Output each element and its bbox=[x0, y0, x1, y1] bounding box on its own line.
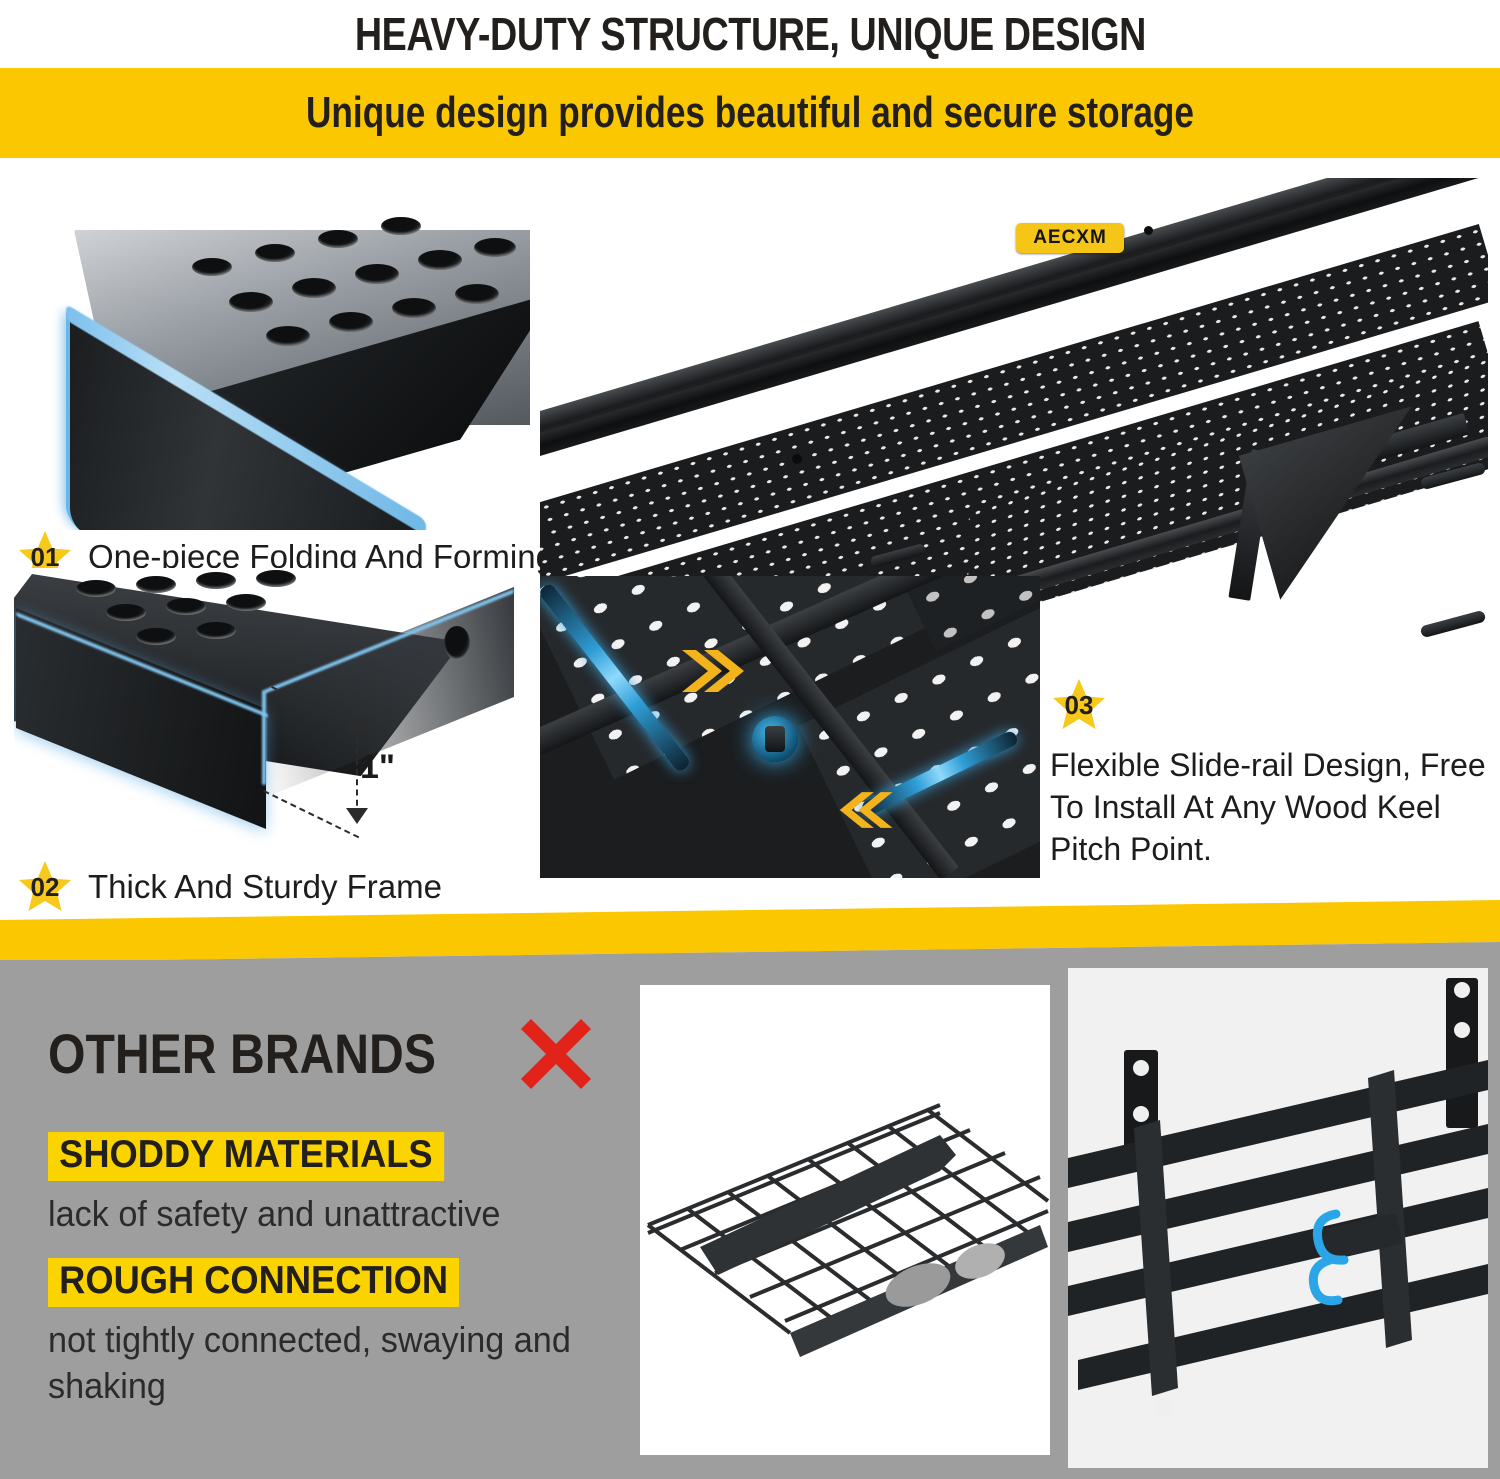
perforation-hole bbox=[106, 604, 146, 621]
comparison-section: OTHER BRANDS SHODDY MATERIALS lack of sa… bbox=[0, 960, 1500, 1479]
chevron-arrow-icon bbox=[678, 644, 746, 703]
wall-anchor-screw bbox=[1420, 610, 1487, 639]
perforation-hole bbox=[381, 217, 421, 235]
brand-badge: AECXM bbox=[1016, 223, 1124, 253]
perforation-hole bbox=[256, 570, 296, 587]
perforation-hole bbox=[136, 576, 176, 593]
feature-caption-03: 03 Flexible Slide-rail Design, Free To I… bbox=[1050, 676, 1490, 871]
perforation-hole bbox=[329, 312, 373, 332]
perforation-hole bbox=[192, 258, 232, 276]
comparison-title: OTHER BRANDS bbox=[48, 1026, 436, 1082]
comparison-item-tag: ROUGH CONNECTION bbox=[48, 1258, 459, 1307]
perforation-hole bbox=[318, 230, 358, 248]
feature-label: Thick And Sturdy Frame bbox=[88, 868, 442, 906]
perforation-hole bbox=[418, 250, 462, 270]
photo-competitor-bracket-rack bbox=[1068, 968, 1488, 1468]
comparison-item-tag: SHODDY MATERIALS bbox=[48, 1132, 444, 1181]
feature-number: 02 bbox=[31, 872, 60, 903]
slide-rail-bolt bbox=[752, 716, 798, 762]
perforation-hole bbox=[196, 622, 236, 639]
feature-number: 03 bbox=[1065, 690, 1094, 721]
perforation-hole bbox=[266, 326, 310, 346]
feature-label: Flexible Slide-rail Design, Free To Inst… bbox=[1050, 744, 1490, 871]
dimension-line bbox=[356, 728, 358, 816]
edge-highlight-vertical bbox=[262, 690, 266, 785]
perforation-hole bbox=[455, 284, 499, 304]
perforation-hole-side bbox=[444, 626, 470, 660]
feature-number: 01 bbox=[31, 542, 60, 573]
comparison-item-2: ROUGH CONNECTION not tightly connected, … bbox=[48, 1258, 648, 1409]
dimension-value: 1" bbox=[360, 748, 395, 787]
perforation-hole bbox=[392, 298, 436, 318]
comparison-item-1: SHODDY MATERIALS lack of safety and unat… bbox=[48, 1132, 524, 1237]
features-section: 01 One-piece Folding And Forming 1" bbox=[0, 158, 1500, 920]
perforation-hole bbox=[166, 598, 206, 615]
star-badge-icon: 02 bbox=[16, 858, 74, 916]
header-title-bar: HEAVY-DUTY STRUCTURE, UNIQUE DESIGN bbox=[0, 0, 1500, 68]
dimension-arrow-down-icon bbox=[346, 808, 368, 824]
photo-thick-sturdy-frame: 1" bbox=[14, 568, 530, 858]
x-mark-icon bbox=[517, 1015, 595, 1093]
perforation-hole bbox=[355, 264, 399, 284]
photo-competitor-wire-mesh bbox=[640, 985, 1050, 1455]
photo-slide-rail-closeup bbox=[540, 576, 1040, 878]
photo-one-piece-folding bbox=[14, 200, 530, 530]
perforation-hole bbox=[255, 244, 295, 262]
perforation-hole bbox=[229, 292, 273, 312]
comparison-item-description: lack of safety and unattractive bbox=[48, 1191, 500, 1237]
perforation-hole bbox=[292, 278, 336, 298]
mounting-hole bbox=[792, 454, 802, 464]
chevron-arrow-icon bbox=[838, 782, 896, 833]
perforation-hole bbox=[226, 594, 266, 611]
perforation-hole bbox=[196, 572, 236, 589]
page-subtitle: Unique design provides beautiful and sec… bbox=[306, 91, 1194, 135]
brand-name: AECXM bbox=[1033, 227, 1107, 249]
perforation-hole bbox=[76, 580, 116, 597]
star-badge-icon: 03 bbox=[1050, 676, 1108, 734]
page-title: HEAVY-DUTY STRUCTURE, UNIQUE DESIGN bbox=[354, 11, 1145, 57]
mounting-hole bbox=[1144, 226, 1153, 235]
comparison-title-row: OTHER BRANDS bbox=[48, 1015, 595, 1093]
perforation-hole bbox=[474, 238, 516, 257]
header-subtitle-bar: Unique design provides beautiful and sec… bbox=[0, 68, 1500, 158]
perforation-hole bbox=[136, 628, 176, 645]
dimension-leader-bottom bbox=[263, 790, 359, 838]
comparison-item-description: not tightly connected, swaying and shaki… bbox=[48, 1317, 618, 1409]
feature-caption-02: 02 Thick And Sturdy Frame bbox=[16, 858, 442, 916]
